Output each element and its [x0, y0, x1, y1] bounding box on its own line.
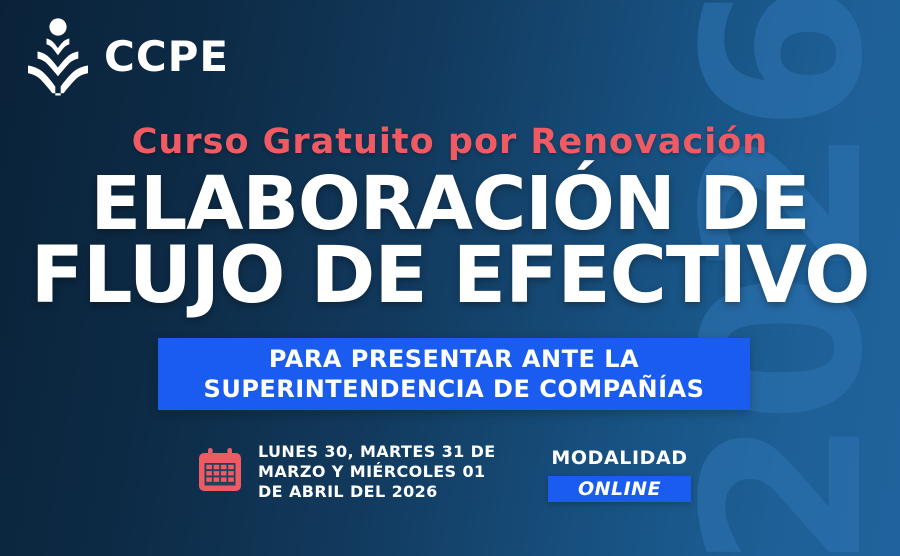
schedule-line-2: MARZO Y MIÉRCOLES 01 [258, 462, 496, 482]
schedule-line-1: LUNES 30, MARTES 31 DE [258, 442, 496, 462]
subtitle-line-2: SUPERINTENDENCIA DE COMPAÑÍAS [204, 374, 705, 404]
headline-line-1: ELABORACIÓN DE [0, 168, 900, 240]
footer: LUNES 30, MARTES 31 DE MARZO Y MIÉRCOLES… [0, 438, 900, 528]
schedule-text: LUNES 30, MARTES 31 DE MARZO Y MIÉRCOLES… [258, 442, 496, 502]
headline-line-2: FLUJO DE EFECTIVO [0, 240, 900, 312]
schedule-line-3: DE ABRIL DEL 2026 [258, 482, 496, 502]
schedule-block: LUNES 30, MARTES 31 DE MARZO Y MIÉRCOLES… [196, 442, 496, 502]
brand-logo: CCPE [26, 18, 229, 96]
modality-label: MODALIDAD [548, 446, 691, 470]
eyebrow-text: Curso Gratuito por Renovación [0, 122, 900, 162]
ccpe-plant-logo-icon [26, 18, 90, 96]
modality-block: MODALIDAD ONLINE [548, 446, 691, 502]
headline: ELABORACIÓN DE FLUJO DE EFECTIVO [0, 168, 900, 312]
promo-poster: 2026 CCPE Curso Gratuito por Renovación … [0, 0, 900, 556]
calendar-icon [196, 442, 244, 494]
modality-value: ONLINE [578, 478, 661, 500]
subtitle-line-1: PARA PRESENTAR ANTE LA [269, 344, 639, 374]
subtitle-banner: PARA PRESENTAR ANTE LA SUPERINTENDENCIA … [158, 338, 750, 410]
brand-wordmark: CCPE [104, 36, 229, 78]
modality-pill: ONLINE [548, 476, 691, 502]
